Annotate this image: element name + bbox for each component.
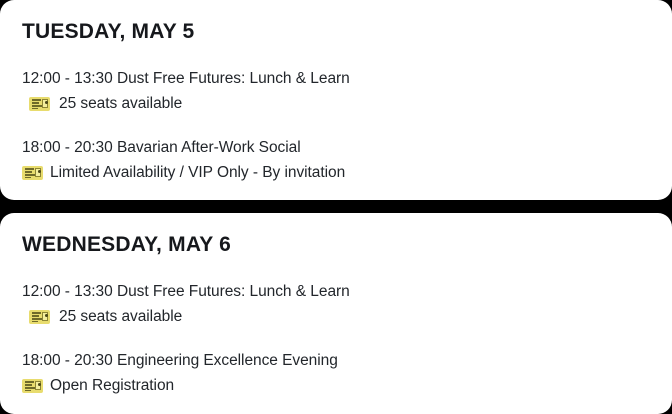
id-card-icon bbox=[22, 378, 43, 393]
day-card-tuesday[interactable]: TUESDAY, MAY 5 12:00 - 13:30 Dust Free F… bbox=[0, 0, 672, 200]
event-status-row: Limited Availability / VIP Only - By inv… bbox=[22, 160, 650, 185]
event-status-label: 25 seats available bbox=[59, 304, 182, 329]
id-card-icon bbox=[29, 309, 50, 324]
day-title: WEDNESDAY, MAY 6 bbox=[22, 233, 650, 256]
event-status-label: Open Registration bbox=[50, 373, 174, 398]
event-time-and-title: 12:00 - 13:30 Dust Free Futures: Lunch &… bbox=[22, 66, 650, 91]
event-item[interactable]: 12:00 - 13:30 Dust Free Futures: Lunch &… bbox=[22, 279, 650, 329]
card-divider bbox=[0, 200, 672, 213]
event-status-label: Limited Availability / VIP Only - By inv… bbox=[50, 160, 345, 185]
event-status-row: Open Registration bbox=[22, 373, 650, 398]
id-card-icon bbox=[22, 165, 43, 180]
schedule-list: TUESDAY, MAY 5 12:00 - 13:30 Dust Free F… bbox=[0, 0, 672, 414]
event-item[interactable]: 12:00 - 13:30 Dust Free Futures: Lunch &… bbox=[22, 66, 650, 116]
event-time-and-title: 18:00 - 20:30 Bavarian After-Work Social bbox=[22, 135, 650, 160]
id-card-icon bbox=[29, 96, 50, 111]
event-status-row: 25 seats available bbox=[22, 91, 650, 116]
event-status-label: 25 seats available bbox=[59, 91, 182, 116]
event-time-and-title: 18:00 - 20:30 Engineering Excellence Eve… bbox=[22, 348, 650, 373]
day-card-wednesday[interactable]: WEDNESDAY, MAY 6 12:00 - 13:30 Dust Free… bbox=[0, 213, 672, 414]
day-title: TUESDAY, MAY 5 bbox=[22, 20, 650, 43]
event-item[interactable]: 18:00 - 20:30 Bavarian After-Work Social… bbox=[22, 135, 650, 185]
event-time-and-title: 12:00 - 13:30 Dust Free Futures: Lunch &… bbox=[22, 279, 650, 304]
event-status-row: 25 seats available bbox=[22, 304, 650, 329]
event-item[interactable]: 18:00 - 20:30 Engineering Excellence Eve… bbox=[22, 348, 650, 398]
